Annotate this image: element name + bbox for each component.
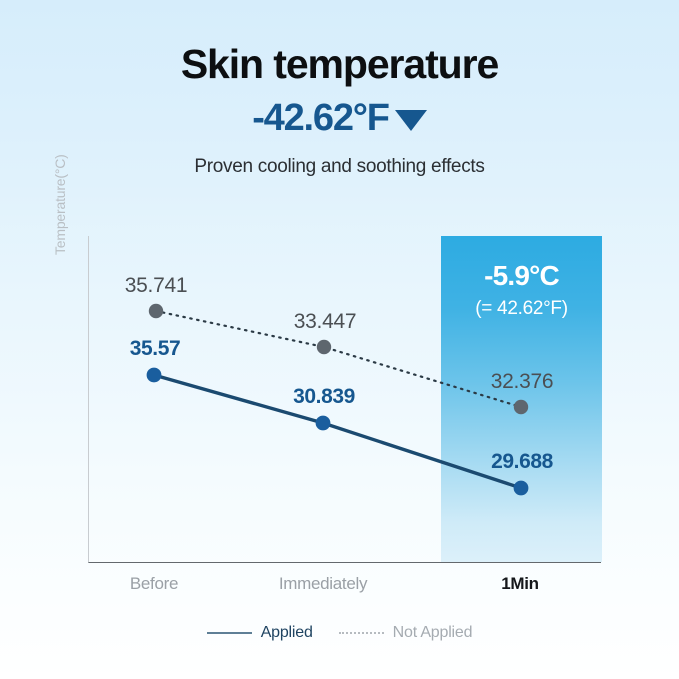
marker-not-applied-before xyxy=(149,304,163,318)
x-label-before: Before xyxy=(130,574,178,594)
legend-item-applied: Applied xyxy=(207,624,313,642)
value-label-applied-1min: 29.688 xyxy=(491,450,553,474)
x-label-1min: 1Min xyxy=(501,574,539,594)
x-axis-labels: Before Immediately 1Min xyxy=(88,574,601,600)
value-label-not-applied-before: 35.741 xyxy=(125,274,187,298)
marker-applied-before xyxy=(147,368,162,383)
chart-legend: Applied Not Applied xyxy=(0,624,679,642)
value-label-applied-immediately: 30.839 xyxy=(293,385,355,409)
marker-applied-immediately xyxy=(316,416,331,431)
legend-item-not-applied: Not Applied xyxy=(339,624,473,642)
legend-label-not-applied: Not Applied xyxy=(393,624,473,642)
marker-applied-1min xyxy=(514,481,529,496)
legend-swatch-dotted-icon xyxy=(339,632,384,634)
value-label-not-applied-1min: 32.376 xyxy=(491,370,553,394)
y-axis-title: Temperature(°C) xyxy=(52,105,74,255)
marker-not-applied-1min xyxy=(514,400,528,414)
legend-swatch-solid-icon xyxy=(207,632,252,635)
x-label-immediately: Immediately xyxy=(279,574,367,594)
value-label-not-applied-immediately: 33.447 xyxy=(294,310,356,334)
marker-not-applied-immediately xyxy=(317,340,331,354)
value-label-applied-before: 35.57 xyxy=(130,337,181,361)
chart: Temperature(°C) -5.9°C (= 42.62°F) 35.74… xyxy=(0,0,679,679)
plot-area: -5.9°C (= 42.62°F) 35.741 33.447 32.376 … xyxy=(88,236,601,563)
legend-label-applied: Applied xyxy=(261,624,313,642)
